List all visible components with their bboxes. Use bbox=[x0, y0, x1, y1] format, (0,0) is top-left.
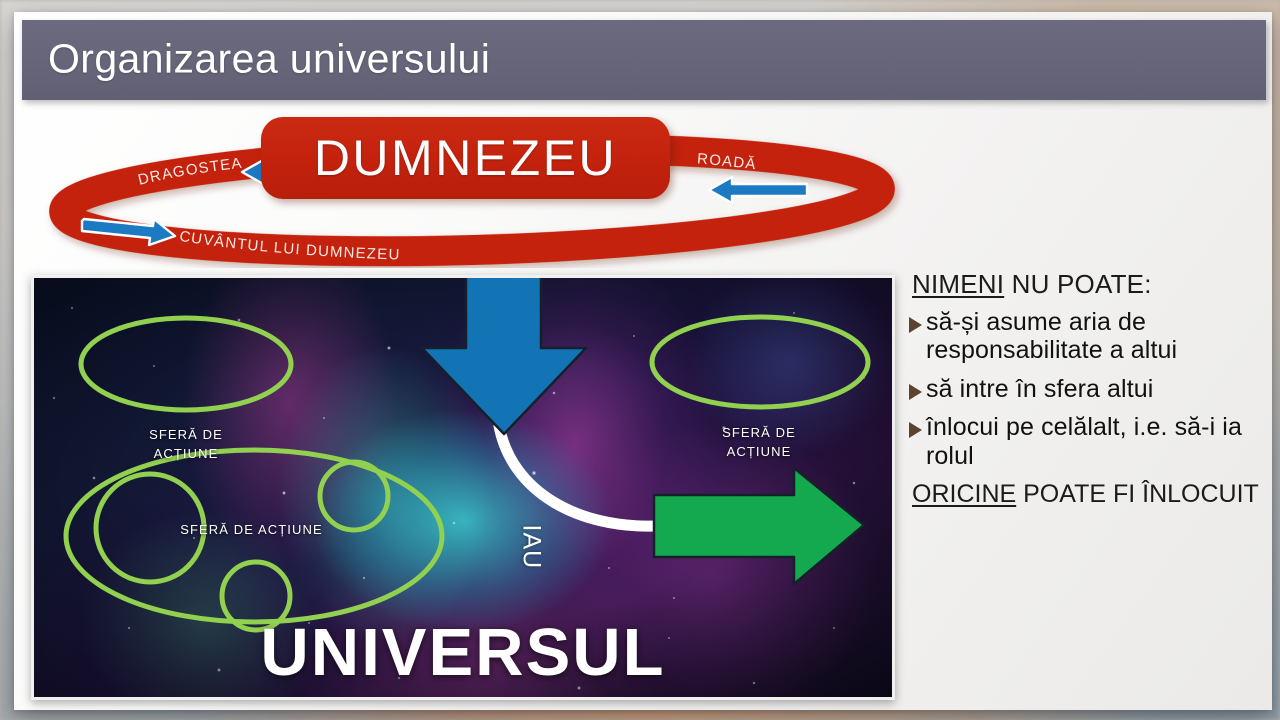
dumnezeu-node: DUMNEZEU bbox=[261, 117, 670, 199]
diagram-stage: DRAGOSTEA ROADĂ CUVÂNTUL LUI DUMNEZEU bbox=[14, 100, 1272, 710]
bullet-triangle-icon bbox=[909, 384, 922, 400]
slide-title-bar: Organizarea universului bbox=[22, 20, 1266, 100]
iau-arrow-icon bbox=[422, 278, 586, 434]
dumnezeu-label: DUMNEZEU bbox=[314, 129, 617, 187]
list-item-label: să-și asume aria de responsabilitate a a… bbox=[926, 308, 1267, 365]
panel-footer-emphasis: ORICINE bbox=[912, 480, 1016, 508]
bullet-triangle-icon bbox=[909, 422, 922, 438]
panel-footer-rest: POATE FI ÎNLOCUIT bbox=[1016, 480, 1259, 508]
rules-panel: NIMENI NU POATE: să-și asume aria de res… bbox=[907, 270, 1267, 509]
universul-label: UNIVERSUL bbox=[34, 614, 892, 691]
universe-image-panel: SFERĂ DE ACȚIUNE SFERĂ DE ACȚIUNE SFERĂ … bbox=[31, 275, 895, 700]
list-item-label: înlocui pe celălalt, i.e. să-i ia rolul bbox=[926, 413, 1267, 470]
panel-heading-emphasis: NIMENI bbox=[912, 269, 1004, 299]
panel-heading-rest: NU POATE: bbox=[1004, 269, 1151, 299]
sphere-top-left bbox=[81, 318, 291, 410]
flow-connector-curve bbox=[499, 426, 654, 526]
list-item: să intre în sfera altui bbox=[907, 375, 1267, 404]
arrow-roada-icon bbox=[709, 177, 807, 203]
panel-footer: ORICINE POATE FI ÎNLOCUIT bbox=[912, 480, 1267, 509]
dau-arrow-icon bbox=[654, 468, 864, 584]
list-item: înlocui pe celălalt, i.e. să-i ia rolul bbox=[907, 413, 1267, 470]
list-item: să-și asume aria de responsabilitate a a… bbox=[907, 308, 1267, 365]
sphere-top-right bbox=[652, 317, 868, 407]
bullet-triangle-icon bbox=[909, 317, 922, 333]
sphere-inner-2 bbox=[320, 462, 388, 530]
panel-heading: NIMENI NU POATE: bbox=[912, 270, 1267, 300]
sphere-big-left bbox=[66, 450, 442, 622]
list-item-label: să intre în sfera altui bbox=[926, 375, 1153, 404]
sphere-inner-1 bbox=[96, 474, 204, 582]
presentation-slide: Organizarea universului DRAGOSTEA ROADĂ bbox=[14, 12, 1272, 710]
iau-label: IAU bbox=[517, 525, 546, 587]
page-title: Organizarea universului bbox=[48, 36, 490, 83]
